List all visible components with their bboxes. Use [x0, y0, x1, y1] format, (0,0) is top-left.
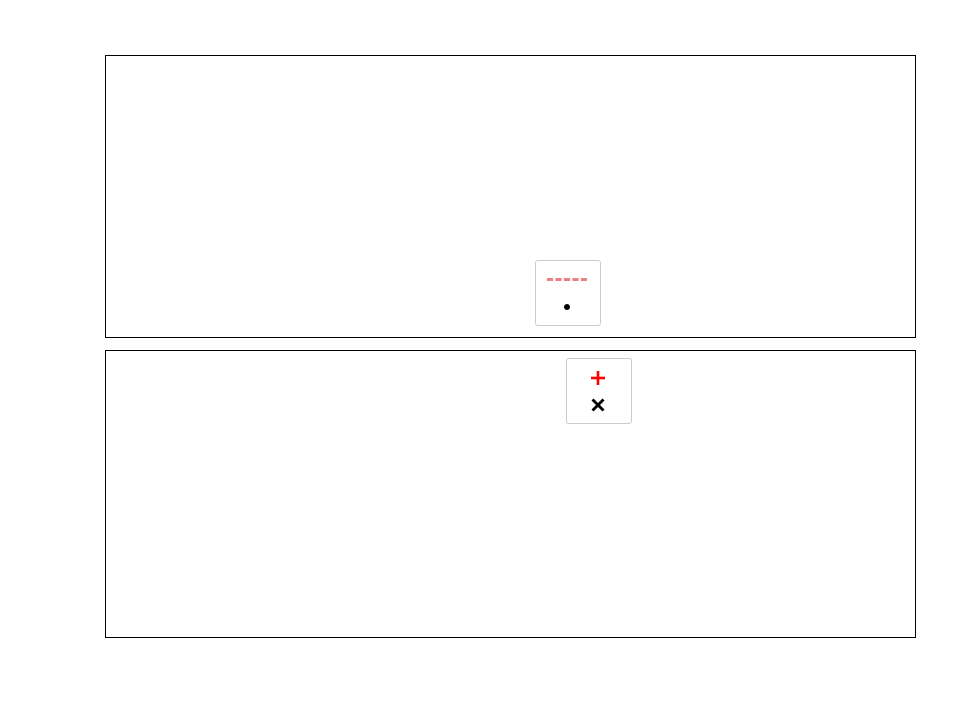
top-panel-axes	[105, 55, 916, 338]
top-panel-y-ticks	[35, 55, 95, 338]
dashed-line-icon	[543, 278, 591, 281]
figure-canvas	[0, 0, 960, 720]
x-axis-ticks	[105, 644, 916, 672]
legend-item-threshold	[543, 266, 591, 293]
dot-marker-icon	[543, 304, 591, 310]
bottom-panel-plot-area	[106, 351, 915, 637]
legend-item-matched-stars	[574, 364, 622, 391]
bottom-panel-y-ticks	[35, 350, 95, 638]
cross-marker-icon	[574, 396, 622, 414]
top-panel-legend	[535, 260, 601, 326]
bottom-panel-axes	[105, 350, 916, 638]
top-panel-plot-area	[106, 56, 915, 337]
legend-item-predicted-stars	[574, 391, 622, 418]
plus-marker-icon	[574, 369, 622, 387]
bottom-panel-legend	[566, 358, 632, 424]
legend-item-measurements	[543, 293, 591, 320]
